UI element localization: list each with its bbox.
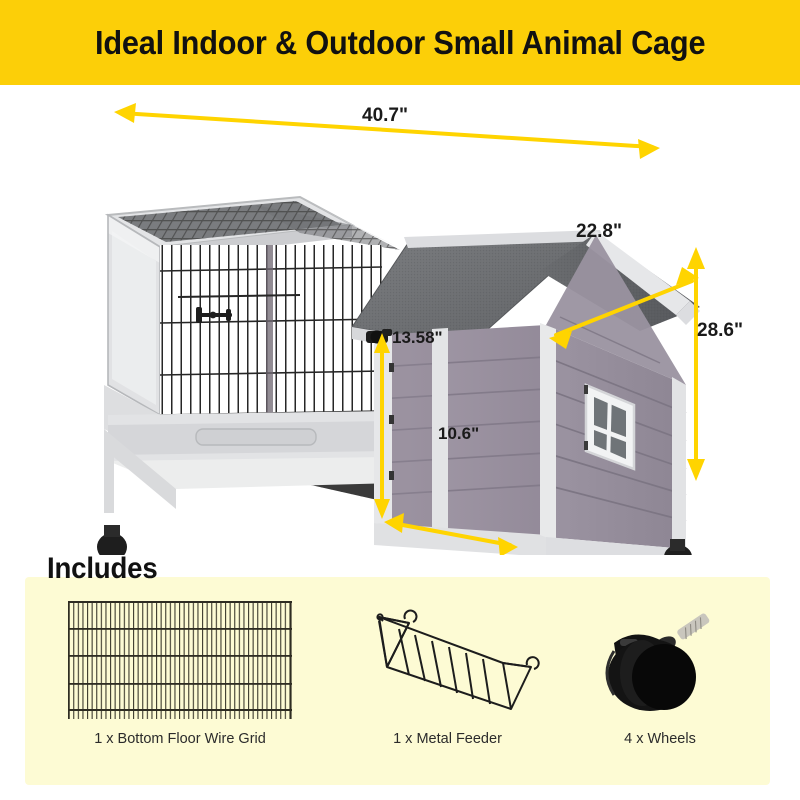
dimension-label-door-width: 10.6" <box>438 424 479 444</box>
page-title: Ideal Indoor & Outdoor Small Animal Cage <box>95 24 705 62</box>
wire-grid-icon <box>64 595 296 725</box>
product-hero: 40.7" 22.8" 28.6" 13.58" 10.6" <box>0 85 800 555</box>
metal-feeder-icon <box>353 595 543 725</box>
includes-item-caption: 4 x Wheels <box>624 731 696 747</box>
includes-item-wire-grid: 1 x Bottom Floor Wire Grid <box>25 595 335 747</box>
includes-item-list: 1 x Bottom Floor Wire Grid <box>25 595 770 770</box>
includes-item-caption: 1 x Bottom Floor Wire Grid <box>94 731 266 747</box>
dimension-label-depth: 22.8" <box>576 221 622 243</box>
product-illustration <box>0 85 800 555</box>
includes-item-wheels: 4 x Wheels <box>560 595 760 747</box>
includes-item-caption: 1 x Metal Feeder <box>393 731 502 747</box>
dimension-label-height: 28.6" <box>697 320 743 342</box>
header-banner: Ideal Indoor & Outdoor Small Animal Cage <box>0 0 800 85</box>
wheel-stem <box>676 612 710 640</box>
run-left-panel <box>108 215 160 415</box>
includes-heading: Includes <box>47 552 158 586</box>
run-wire-front <box>160 245 382 421</box>
caster-wheel-icon <box>580 595 740 725</box>
includes-item-metal-feeder: 1 x Metal Feeder <box>335 595 560 747</box>
dimension-label-door-height: 13.58" <box>392 328 443 348</box>
pull-out-tray-handle <box>196 429 316 445</box>
dimension-label-length: 40.7" <box>362 105 408 127</box>
